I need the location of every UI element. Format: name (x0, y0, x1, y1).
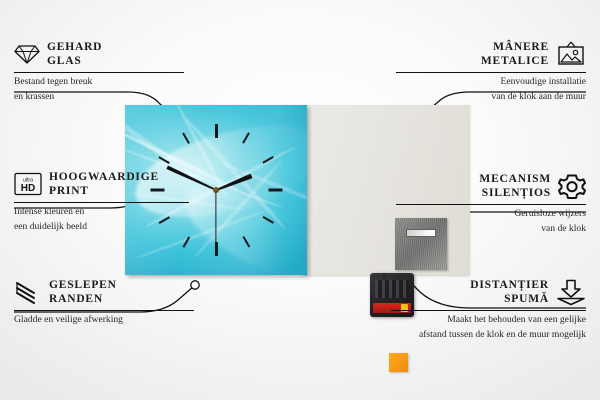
hour-hand (215, 173, 252, 192)
diamond-icon (14, 43, 40, 65)
callout-title-line1: MÂNERE (481, 40, 549, 54)
callout-manere-metalice: MÂNERE METALICE Eenvoudige installatie v… (396, 40, 586, 103)
callout-title-line1: HOOGWAARDIGE (49, 170, 159, 184)
framed-picture-icon (556, 41, 586, 67)
callout-title-line2: SPUMĂ (470, 292, 549, 306)
callout-sub-line2: van de klok aan de muur (396, 91, 586, 103)
callout-gehard-glas: GEHARD GLAS Bestand tegen breuk en krass… (14, 40, 184, 103)
callout-divider (14, 202, 189, 203)
callout-title-line1: GESLEPEN (49, 278, 117, 292)
callout-divider (14, 310, 194, 311)
callout-title-line1: MECANISM (479, 172, 551, 186)
callout-sub-line1: Maakt het behouden van een gelijke (391, 314, 586, 326)
callout-hoogwaardige-print: ultra HD HOOGWAARDIGE PRINT Intense kleu… (14, 170, 189, 233)
callout-title-line2: RANDEN (49, 292, 117, 306)
press-down-icon (556, 279, 586, 306)
foam-spacer (389, 353, 408, 372)
callout-mecanism-silentios: MECANISM SILENȚIOS Geruisloze wijzers va… (396, 172, 586, 235)
svg-text:HD: HD (21, 183, 35, 194)
callout-divider (396, 72, 586, 73)
callout-sub-line2: van de klok (396, 223, 586, 235)
callout-sub-line2: en krassen (14, 91, 184, 103)
hand-center-cap (213, 187, 219, 193)
callout-divider (14, 72, 184, 73)
callout-divider (396, 204, 586, 205)
callout-title-line2: SILENȚIOS (479, 186, 551, 200)
callout-sub-line1: Intense kleuren en (14, 206, 189, 218)
callout-title-line2: PRINT (49, 184, 159, 198)
second-hand (215, 190, 216, 250)
infographic-canvas: GEHARD GLAS Bestand tegen breuk en krass… (0, 0, 600, 400)
gear-icon (558, 173, 586, 200)
callout-geslepen-randen: GESLEPEN RANDEN Gladde en veilige afwerk… (14, 278, 194, 326)
callout-sub-line1: Gladde en veilige afwerking (14, 314, 194, 326)
callout-title-line2: GLAS (47, 54, 102, 68)
callout-sub-line1: Eenvoudige installatie (396, 76, 586, 88)
callout-divider (391, 310, 586, 311)
callout-sub-line1: Geruisloze wijzers (396, 208, 586, 220)
callout-sub-line2: afstand tussen de klok en de muur mogeli… (391, 329, 586, 341)
callout-sub-line2: een duidelijk beeld (14, 221, 189, 233)
beveled-edges-icon (14, 280, 42, 304)
callout-title-line1: GEHARD (47, 40, 102, 54)
callout-title-line1: DISTANȚIER (470, 278, 549, 292)
ultra-hd-icon: ultra HD (14, 172, 42, 196)
callout-sub-line1: Bestand tegen breuk (14, 76, 184, 88)
callout-distantier-spuma: DISTANȚIER SPUMĂ Maakt het behouden van … (391, 278, 586, 341)
callout-title-line2: METALICE (481, 54, 549, 68)
